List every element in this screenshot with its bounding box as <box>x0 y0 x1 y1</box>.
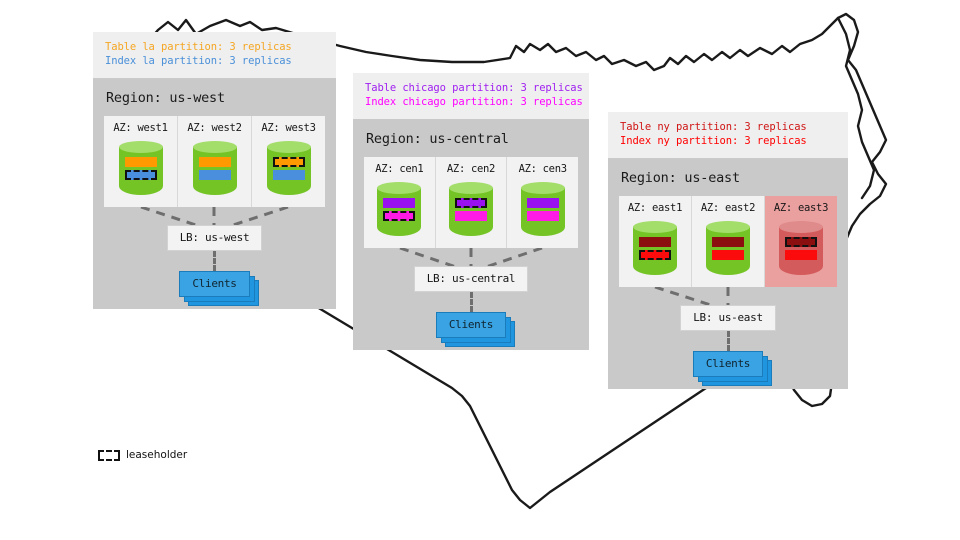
load-balancer-us-west[interactable]: LB: us-west <box>167 225 263 251</box>
az-cell-east3-failed[interactable]: AZ: east3 <box>765 196 837 287</box>
clients-stack-us-east[interactable]: Clients <box>693 351 763 377</box>
table-replica-band <box>639 237 671 247</box>
node-cylinder-east2[interactable] <box>706 221 750 279</box>
table-replica-band <box>199 157 231 167</box>
clients-stack-us-central[interactable]: Clients <box>436 312 506 338</box>
partition-line-table: Table ny partition: 3 replicas <box>620 120 836 134</box>
index-replica-band <box>455 211 487 221</box>
az-label: AZ: east2 <box>701 202 755 214</box>
table-replica-band-leaseholder <box>273 157 305 167</box>
cylinder-top <box>267 141 311 153</box>
load-balancer-us-central[interactable]: LB: us-central <box>414 266 529 292</box>
clients-box[interactable]: Clients <box>436 312 506 338</box>
az-label: AZ: west3 <box>261 122 315 134</box>
table-replica-band <box>125 157 157 167</box>
lb-to-clients-line <box>470 292 473 312</box>
cylinder-top <box>706 221 750 233</box>
clients-box[interactable]: Clients <box>179 271 249 297</box>
clients-row-us-east: Clients <box>619 351 837 377</box>
az-cell-west3[interactable]: AZ: west3 <box>252 116 325 207</box>
partition-line-index: Index ny partition: 3 replicas <box>620 134 836 148</box>
az-label: AZ: west2 <box>187 122 241 134</box>
clients-stack-us-west[interactable]: Clients <box>179 271 249 297</box>
table-replica-band <box>383 198 415 208</box>
az-strip-us-west: AZ: west1 AZ: west2 <box>104 116 325 207</box>
az-cell-cen1[interactable]: AZ: cen1 <box>364 157 436 248</box>
cylinder-top <box>779 221 823 233</box>
az-cell-cen3[interactable]: AZ: cen3 <box>507 157 578 248</box>
clients-row-us-central: Clients <box>364 312 578 338</box>
region-title: Region: us-east <box>621 170 837 186</box>
az-cell-cen2[interactable]: AZ: cen2 <box>436 157 508 248</box>
legend-label: leaseholder <box>126 449 187 461</box>
node-cylinder-cen2[interactable] <box>449 182 493 240</box>
node-cylinder-west3[interactable] <box>267 141 311 199</box>
node-cylinder-east1[interactable] <box>633 221 677 279</box>
az-label: AZ: east3 <box>774 202 828 214</box>
cylinder-top <box>193 141 237 153</box>
node-cylinder-east3-failed[interactable] <box>779 221 823 279</box>
az-cell-west2[interactable]: AZ: west2 <box>178 116 252 207</box>
leaseholder-dashed-swatch-icon <box>98 450 120 461</box>
index-replica-band <box>273 170 305 180</box>
az-cell-east1[interactable]: AZ: east1 <box>619 196 692 287</box>
node-cylinder-west2[interactable] <box>193 141 237 199</box>
region-body-us-east: Region: us-east AZ: east1 AZ: east2 <box>608 158 848 389</box>
az-strip-us-central: AZ: cen1 AZ: cen2 <box>364 157 578 248</box>
partition-line-index: Index chicago partition: 3 replicas <box>365 95 577 109</box>
node-cylinder-cen3[interactable] <box>521 182 565 240</box>
legend: leaseholder <box>98 449 187 461</box>
clients-row-us-west: Clients <box>104 271 325 297</box>
az-label: AZ: cen2 <box>447 163 495 175</box>
lb-to-clients-line <box>213 251 216 271</box>
region-card-us-west: Table la partition: 3 replicas Index la … <box>93 32 336 309</box>
region-body-us-west: Region: us-west AZ: west1 AZ: west2 <box>93 78 336 309</box>
partition-header-us-east: Table ny partition: 3 replicas Index ny … <box>608 112 848 158</box>
cylinder-top <box>449 182 493 194</box>
partition-line-table: Table la partition: 3 replicas <box>105 40 324 54</box>
region-body-us-central: Region: us-central AZ: cen1 AZ: cen2 <box>353 119 589 350</box>
cylinder-top <box>119 141 163 153</box>
partition-header-us-central: Table chicago partition: 3 replicas Inde… <box>353 73 589 119</box>
index-replica-band-leaseholder <box>383 211 415 221</box>
index-replica-band <box>785 250 817 260</box>
table-replica-band <box>712 237 744 247</box>
az-label: AZ: cen3 <box>519 163 567 175</box>
table-replica-band-leaseholder <box>785 237 817 247</box>
partition-line-index: Index la partition: 3 replicas <box>105 54 324 68</box>
region-card-us-east: Table ny partition: 3 replicas Index ny … <box>608 112 848 389</box>
index-replica-band <box>712 250 744 260</box>
clients-box[interactable]: Clients <box>693 351 763 377</box>
diagram-stage: leaseholder Table la partition: 3 replic… <box>0 0 960 540</box>
cylinder-top <box>633 221 677 233</box>
lb-to-clients-line <box>727 331 730 351</box>
region-title: Region: us-central <box>366 131 578 147</box>
az-label: AZ: west1 <box>113 122 167 134</box>
region-card-us-central: Table chicago partition: 3 replicas Inde… <box>353 73 589 350</box>
index-replica-band <box>527 211 559 221</box>
index-replica-band-leaseholder <box>125 170 157 180</box>
cylinder-top <box>377 182 421 194</box>
table-replica-band <box>527 198 559 208</box>
index-replica-band-leaseholder <box>639 250 671 260</box>
index-replica-band <box>199 170 231 180</box>
region-title: Region: us-west <box>106 90 325 106</box>
az-cell-east2[interactable]: AZ: east2 <box>692 196 765 287</box>
az-cell-west1[interactable]: AZ: west1 <box>104 116 178 207</box>
az-label: AZ: east1 <box>628 202 682 214</box>
az-label: AZ: cen1 <box>375 163 423 175</box>
node-cylinder-west1[interactable] <box>119 141 163 199</box>
table-replica-band-leaseholder <box>455 198 487 208</box>
node-cylinder-cen1[interactable] <box>377 182 421 240</box>
az-strip-us-east: AZ: east1 AZ: east2 <box>619 196 837 287</box>
load-balancer-us-east[interactable]: LB: us-east <box>680 305 776 331</box>
cylinder-top <box>521 182 565 194</box>
partition-line-table: Table chicago partition: 3 replicas <box>365 81 577 95</box>
partition-header-us-west: Table la partition: 3 replicas Index la … <box>93 32 336 78</box>
